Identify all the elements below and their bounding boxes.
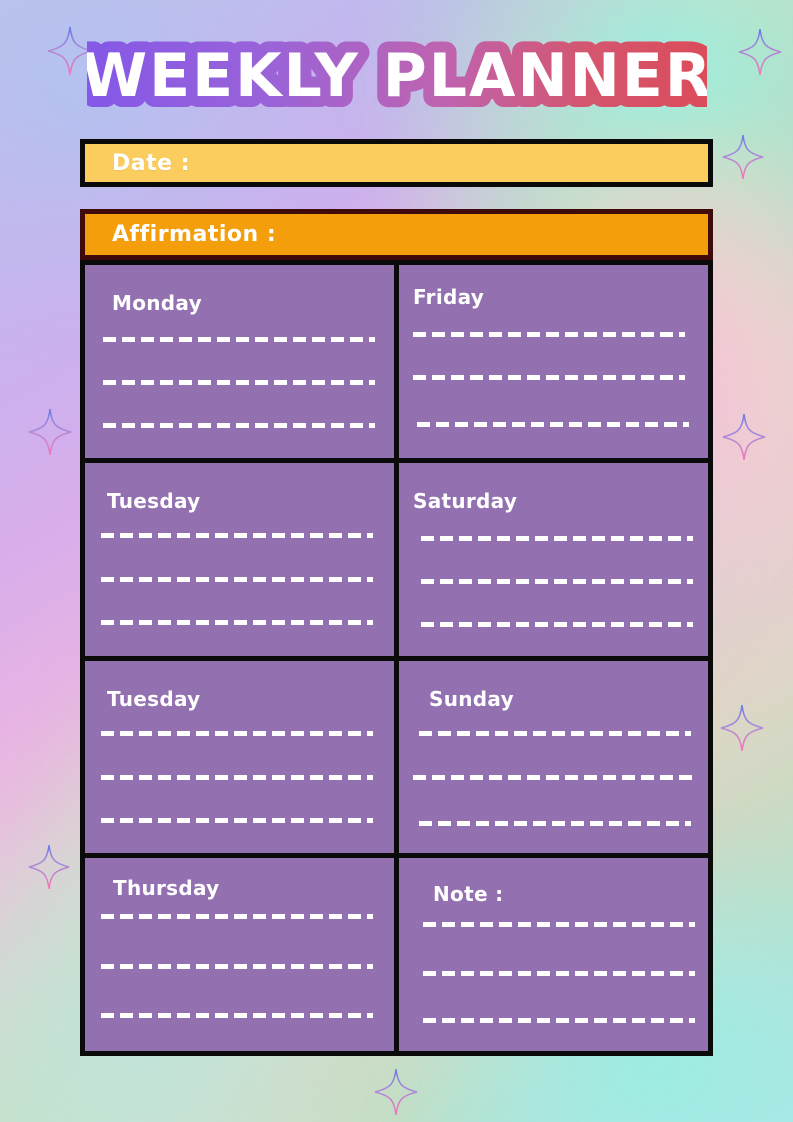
planner-write-line[interactable] [101, 731, 373, 736]
planner-write-line[interactable] [103, 423, 375, 428]
planner-write-line[interactable] [101, 1013, 373, 1018]
planner-write-line[interactable] [413, 775, 693, 780]
planner-write-line[interactable] [413, 332, 685, 337]
planner-cell[interactable]: Thursday [85, 858, 394, 1051]
planner-write-line[interactable] [101, 964, 373, 969]
planner-cell-label: Thursday [113, 876, 220, 900]
planner-write-line[interactable] [103, 380, 375, 385]
planner-write-line[interactable] [101, 620, 373, 625]
planner-cell[interactable]: Tuesday [85, 463, 394, 656]
date-field[interactable]: Date : [80, 139, 713, 187]
planner-cell[interactable]: Sunday [399, 661, 708, 854]
planner-write-line[interactable] [421, 536, 693, 541]
planner-cell[interactable]: Friday [399, 265, 708, 458]
planner-cell[interactable]: Saturday [399, 463, 708, 656]
planner-cell-label: Note : [433, 882, 503, 906]
planner-cell-label: Sunday [429, 687, 514, 711]
affirmation-label: Affirmation : [112, 222, 276, 247]
affirmation-field[interactable]: Affirmation : [80, 209, 713, 260]
planner-cell[interactable]: Note : [399, 858, 708, 1051]
planner-write-line[interactable] [423, 1018, 695, 1023]
planner-write-line[interactable] [421, 579, 693, 584]
planner-write-line[interactable] [101, 914, 373, 919]
planner-write-line[interactable] [103, 337, 375, 342]
planner-write-line[interactable] [101, 775, 373, 780]
planner-cell-label: Tuesday [107, 687, 201, 711]
planner-cell-label: Friday [413, 285, 484, 309]
svg-text:WEEKLY PLANNER: WEEKLY PLANNER [87, 41, 707, 111]
planner-grid: MondayFridayTuesdaySaturdayTuesdaySunday… [80, 260, 713, 1056]
page-title: WEEKLY PLANNER WEEKLY PLANNER [0, 34, 793, 118]
planner-write-line[interactable] [419, 821, 691, 826]
planner-write-line[interactable] [101, 533, 373, 538]
planner-cell[interactable]: Monday [85, 265, 394, 458]
planner-cell-label: Saturday [413, 489, 517, 513]
planner-write-line[interactable] [101, 577, 373, 582]
planner-write-line[interactable] [417, 422, 689, 427]
planner-write-line[interactable] [413, 375, 685, 380]
planner-write-line[interactable] [421, 622, 693, 627]
planner-cell-label: Tuesday [107, 489, 201, 513]
date-label: Date : [112, 151, 190, 176]
weekly-planner-page: WEEKLY PLANNER WEEKLY PLANNER Date : Aff… [0, 0, 793, 1122]
page-title-graphic: WEEKLY PLANNER WEEKLY PLANNER [87, 34, 707, 120]
planner-write-line[interactable] [423, 922, 695, 927]
planner-cell[interactable]: Tuesday [85, 661, 394, 854]
planner-write-line[interactable] [423, 971, 695, 976]
planner-write-line[interactable] [419, 731, 691, 736]
planner-write-line[interactable] [101, 818, 373, 823]
planner-cell-label: Monday [112, 291, 202, 315]
